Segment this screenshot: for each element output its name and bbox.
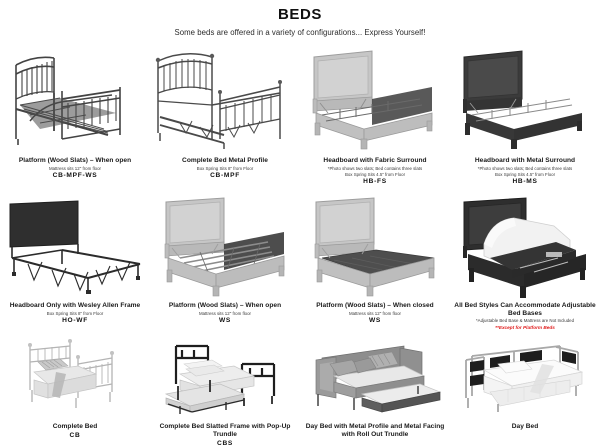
bed-note: Mattress sits 12" from floor	[150, 311, 300, 316]
bed-title: All Bed Styles Can Accommodate Adjustabl…	[450, 302, 600, 318]
bed-note-2: Box Spring Sits 4.5" from Floor	[450, 172, 600, 177]
bed-caption: Headboard Only with Wesley Allen Frame B…	[0, 302, 150, 325]
bed-note: Box Spring Sits 8" from Floor	[150, 166, 300, 171]
day-bed-metal-profile-roll-out-trundle-bed-image	[300, 336, 450, 420]
bed-note: Mattress sits 12" from floor	[300, 311, 450, 316]
bed-caption: Headboard with Metal Surround *Photo sho…	[450, 157, 600, 186]
bed-caption: Complete Bed CB	[0, 423, 150, 440]
bed-code: CB-MPF-WS	[0, 172, 150, 180]
bed-code: HO-WF	[0, 317, 150, 325]
page-header: BEDS Some beds are offered in a variety …	[0, 0, 600, 37]
bed-title: Day Bed with Metal Profile and Metal Fac…	[300, 423, 450, 439]
beds-catalog-page: BEDS Some beds are offered in a variety …	[0, 0, 600, 448]
bed-note-2: Box Spring Sits 4.5" from Floor	[300, 172, 450, 177]
bed-title: Complete Bed Slatted Frame with Pop-Up T…	[150, 423, 300, 439]
bed-card-day-bed-metal-profile-trundle[interactable]: Day Bed with Metal Profile and Metal Fac…	[300, 336, 450, 447]
bed-grid-row-1: Platform (Wood Slats) – When open Mattre…	[0, 43, 600, 186]
bed-warning: **Except for Platform Beds	[450, 325, 600, 331]
bed-card-platform-wood-slats-open[interactable]: Platform (Wood Slats) – When open Mattre…	[0, 43, 150, 186]
bed-title: Platform (Wood Slats) – When open	[150, 302, 300, 310]
bed-caption: Complete Bed Slatted Frame with Pop-Up T…	[150, 423, 300, 447]
bed-title: Platform (Wood Slats) – When open	[0, 157, 150, 165]
bed-note: *Adjustable Bed Base & Mattress are Not …	[450, 318, 600, 323]
day-bed-bed-image	[450, 336, 600, 420]
bed-grid-row-3: Complete Bed CB	[0, 336, 600, 447]
bed-card-day-bed[interactable]: Day Bed	[450, 336, 600, 447]
bed-card-platform-wood-slats-closed[interactable]: Platform (Wood Slats) – When closed Matt…	[300, 192, 450, 330]
bed-caption: Platform (Wood Slats) – When closed Matt…	[300, 302, 450, 325]
bed-title: Platform (Wood Slats) – When closed	[300, 302, 450, 310]
platform-wood-slats-open-bed-image	[0, 43, 150, 155]
bed-card-headboard-metal-surround[interactable]: Headboard with Metal Surround *Photo sho…	[450, 43, 600, 186]
bed-caption: Platform (Wood Slats) – When open Mattre…	[0, 157, 150, 180]
bed-caption: Day Bed with Metal Profile and Metal Fac…	[300, 423, 450, 439]
bed-card-adjustable-bed-base[interactable]: All Bed Styles Can Accommodate Adjustabl…	[450, 192, 600, 330]
headboard-with-fabric-surround-bed-image	[300, 43, 450, 155]
bed-caption: Headboard with Fabric Surround *Photo sh…	[300, 157, 450, 186]
headboard-only-wesley-allen-frame-bed-image	[0, 192, 150, 300]
complete-bed-slatted-frame-pop-up-trundle-bed-image	[150, 336, 300, 420]
headboard-with-metal-surround-bed-image	[450, 43, 600, 155]
bed-title: Complete Bed	[0, 423, 150, 431]
bed-card-headboard-only-wesley-allen-frame[interactable]: Headboard Only with Wesley Allen Frame B…	[0, 192, 150, 330]
page-subtitle: Some beds are offered in a variety of co…	[0, 28, 600, 37]
bed-title: Headboard with Metal Surround	[450, 157, 600, 165]
bed-card-headboard-fabric-surround[interactable]: Headboard with Fabric Surround *Photo sh…	[300, 43, 450, 186]
bed-card-complete-bed[interactable]: Complete Bed CB	[0, 336, 150, 447]
bed-note: Box Spring Sits 8" from Floor	[0, 311, 150, 316]
page-title: BEDS	[0, 6, 600, 23]
bed-note: Mattress sits 12" from floor	[0, 166, 150, 171]
bed-caption: Complete Bed Metal Profile Box Spring Si…	[150, 157, 300, 180]
complete-bed-metal-bed-image	[0, 336, 150, 420]
bed-code: WS	[150, 317, 300, 325]
bed-grid-row-2: Headboard Only with Wesley Allen Frame B…	[0, 192, 600, 330]
adjustable-bed-base-bed-image	[450, 192, 600, 300]
bed-title: Complete Bed Metal Profile	[150, 157, 300, 165]
bed-code: CBS	[150, 440, 300, 448]
bed-title: Headboard Only with Wesley Allen Frame	[0, 302, 150, 310]
bed-note: *Photo shows two slats; Bed contains thr…	[300, 166, 450, 171]
platform-wood-slats-closed-upholstered-bed-image	[300, 192, 450, 300]
bed-title: Headboard with Fabric Surround	[300, 157, 450, 165]
bed-code: WS	[300, 317, 450, 325]
bed-card-complete-bed-slatted-frame-trundle[interactable]: Complete Bed Slatted Frame with Pop-Up T…	[150, 336, 300, 447]
bed-card-complete-bed-metal-profile[interactable]: Complete Bed Metal Profile Box Spring Si…	[150, 43, 300, 186]
bed-code: CB-MPF	[150, 172, 300, 180]
platform-wood-slats-open-upholstered-bed-image	[150, 192, 300, 300]
bed-card-platform-wood-slats-open-upholstered[interactable]: Platform (Wood Slats) – When open Mattre…	[150, 192, 300, 330]
bed-caption: All Bed Styles Can Accommodate Adjustabl…	[450, 302, 600, 330]
bed-caption: Day Bed	[450, 423, 600, 431]
bed-code: HB-MS	[450, 178, 600, 186]
bed-title: Day Bed	[450, 423, 600, 431]
bed-code: CB	[0, 432, 150, 440]
complete-bed-metal-profile-bed-image	[150, 43, 300, 155]
bed-note: *Photo shows two slats; Bed contains thr…	[450, 166, 600, 171]
bed-caption: Platform (Wood Slats) – When open Mattre…	[150, 302, 300, 325]
bed-code: HB-FS	[300, 178, 450, 186]
